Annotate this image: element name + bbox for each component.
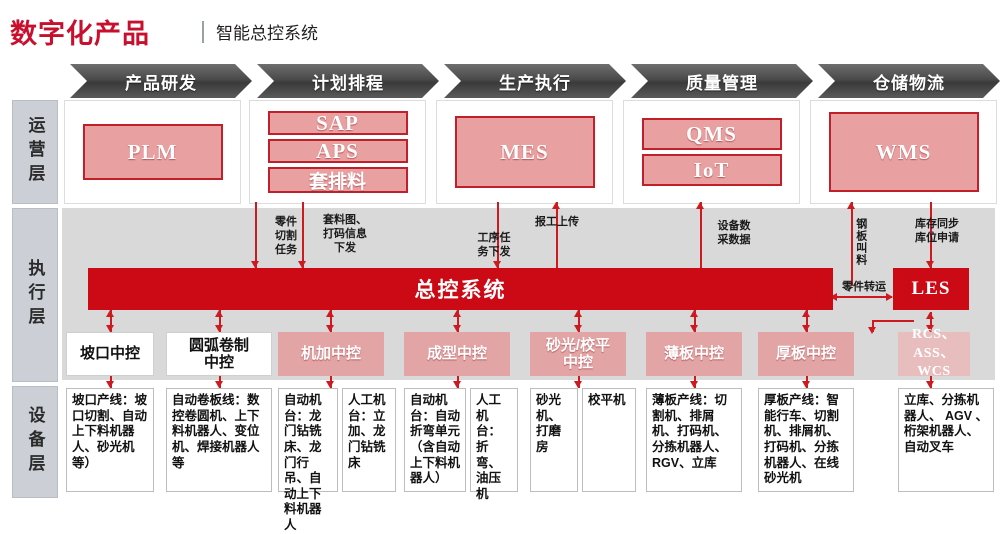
- stage-chevron-2: 计划排程: [257, 64, 439, 98]
- stage-chevron-4: 质量管理: [631, 64, 813, 98]
- page-title: 数字化产品: [10, 12, 150, 51]
- header-divider: [202, 21, 204, 43]
- control-box-thick-plate[interactable]: 厚板中控: [758, 332, 854, 376]
- connector-line: [255, 202, 257, 268]
- flow-label-report-upload: 报工上传: [526, 216, 588, 230]
- arrow-head-down: [215, 381, 223, 388]
- flow-label-nesting-download: 套料图、 打码信息 下发: [312, 214, 378, 255]
- device-box-leveler: 校平机: [582, 388, 636, 492]
- arrow-head-down: [926, 261, 934, 268]
- ops-card-planning: SAP APS 套排料: [249, 100, 426, 204]
- flow-label-part-cutting: 零件 切割 任务: [266, 216, 306, 257]
- connector-line: [700, 202, 702, 268]
- arrow-head-up: [696, 202, 704, 209]
- arrow-head-up: [690, 310, 698, 317]
- control-box-sanding-leveling[interactable]: 砂光/校平 中控: [530, 332, 626, 376]
- arrow-head-up: [552, 202, 560, 209]
- device-box-auto-rolling-line: 自动卷板线：数控卷圆机、上下料机器人、变位机、焊接机器人等: [166, 388, 272, 492]
- device-box-auto-machining-station: 自动机台：龙门钻铣床、龙门行吊、自动上下料机器人: [278, 388, 338, 492]
- arrow-head-down: [326, 381, 334, 388]
- flow-label-steel-call: 钢板叫料: [853, 218, 867, 266]
- arrow-head-down: [574, 381, 582, 388]
- arrow-head-down: [574, 325, 582, 332]
- flow-label-equipment-data: 设备数 采数据: [710, 220, 758, 248]
- arrow-head-up: [847, 202, 855, 209]
- stage-chevron-5: 仓储物流: [818, 64, 1000, 98]
- layer-rail-operations-label: 运营层: [27, 116, 44, 188]
- arrow-head-down: [215, 325, 223, 332]
- connector-line: [872, 320, 914, 322]
- layer-rail-execution-label: 执行层: [27, 259, 44, 331]
- arrow-head-down: [926, 381, 934, 388]
- flow-label-part-transfer: 零件转运: [833, 281, 895, 295]
- connector-line: [556, 202, 558, 268]
- flow-label-stock-sync: 库存同步 库位申请: [906, 218, 968, 246]
- arrow-head-down: [453, 325, 461, 332]
- arrow-head-down: [453, 381, 461, 388]
- arrow-head-down: [106, 381, 114, 388]
- arrow-head-up: [106, 310, 114, 317]
- arrow-head-down: [251, 261, 259, 268]
- arrow-head-up: [926, 312, 934, 319]
- diagram-canvas: 数字化产品 智能总控系统 产品研发 计划排程 生产执行 质量管理 仓储物流 运营…: [0, 0, 1000, 500]
- device-box-warehouse-equipment: 立库、分拣机器人、 AGV 、桁架机器人、自动叉车: [898, 388, 994, 492]
- control-box-thin-plate[interactable]: 薄板中控: [646, 332, 742, 376]
- arrow-head-up: [802, 310, 810, 317]
- stage-banner: 产品研发 计划排程 生产执行 质量管理 仓储物流: [70, 64, 995, 98]
- arrow-head-down: [326, 325, 334, 332]
- stage-chevron-1: 产品研发: [70, 64, 252, 98]
- app-box-iot[interactable]: IoT: [642, 154, 782, 186]
- device-box-thin-plate-line: 薄板产线：切割机、排屑机、打码机、分拣机器人、RGV、立库: [646, 388, 742, 492]
- app-box-sap[interactable]: SAP: [268, 111, 408, 135]
- control-box-bevel[interactable]: 坡口中控: [66, 332, 154, 376]
- stage-chevron-3: 生产执行: [444, 64, 626, 98]
- ops-card-rnd: PLM: [64, 100, 241, 204]
- control-box-rcs-ass-wcs[interactable]: RCS、 ASS、 WCS: [898, 332, 970, 376]
- app-box-qms[interactable]: QMS: [642, 118, 782, 150]
- arrow-head-up: [453, 310, 461, 317]
- page-header: 数字化产品 智能总控系统: [10, 12, 318, 51]
- layer-rail-device-label: 设备层: [27, 406, 44, 478]
- arrow-head-down: [802, 381, 810, 388]
- arrow-head-up: [326, 310, 334, 317]
- connector-line: [836, 296, 892, 298]
- layer-rail-operations: 运营层: [12, 100, 58, 204]
- ops-card-quality: QMS IoT: [623, 100, 800, 204]
- arrow-head-down: [690, 325, 698, 332]
- device-box-manual-bending-station: 人工机台：折弯、油压机: [470, 388, 518, 492]
- control-box-forming[interactable]: 成型中控: [404, 332, 510, 376]
- app-box-nesting[interactable]: 套排料: [268, 167, 408, 193]
- app-box-plm[interactable]: PLM: [83, 124, 223, 180]
- control-box-machining[interactable]: 机加中控: [278, 332, 384, 376]
- arrow-head-up: [215, 310, 223, 317]
- device-box-sander-grinding-room: 砂光机、打磨房: [530, 388, 578, 492]
- app-box-aps[interactable]: APS: [268, 139, 408, 163]
- arrow-head-down: [298, 261, 306, 268]
- device-box-auto-bending-station: 自动机台：自动折弯单元（含自动上下料机器人）: [404, 388, 466, 492]
- arrow-head-up: [574, 310, 582, 317]
- ops-card-warehouse: WMS: [810, 100, 997, 204]
- layer-rail-execution: 执行层: [12, 208, 58, 382]
- device-box-thick-plate-line: 厚板产线：智能行车、切割机、排屑机、打码机、分拣机器人、在线砂光机: [758, 388, 854, 492]
- les-box[interactable]: LES: [893, 268, 969, 310]
- arrow-head-down: [690, 381, 698, 388]
- ops-card-production: MES: [436, 100, 613, 204]
- flow-label-process-task: 工序任 务下发: [470, 232, 518, 260]
- device-box-manual-machining-station: 人工机台：立加、龙门钻铣床: [342, 388, 396, 492]
- connector-line: [302, 202, 304, 268]
- layer-rail-device: 设备层: [12, 386, 58, 498]
- app-box-wms[interactable]: WMS: [829, 112, 979, 192]
- arrow-head-down: [493, 261, 501, 268]
- arrow-head-down: [802, 325, 810, 332]
- app-box-mes[interactable]: MES: [455, 116, 595, 188]
- arrow-head-down: [868, 327, 876, 334]
- device-box-bevel-line: 坡口产线：坡口切割、自动上下料机器人、砂光机等）: [66, 388, 154, 492]
- control-box-arc-rolling[interactable]: 圆弧卷制 中控: [166, 332, 272, 376]
- arrow-head-down: [106, 325, 114, 332]
- page-subtitle: 智能总控系统: [216, 19, 318, 44]
- central-control-system[interactable]: 总控系统: [88, 268, 833, 310]
